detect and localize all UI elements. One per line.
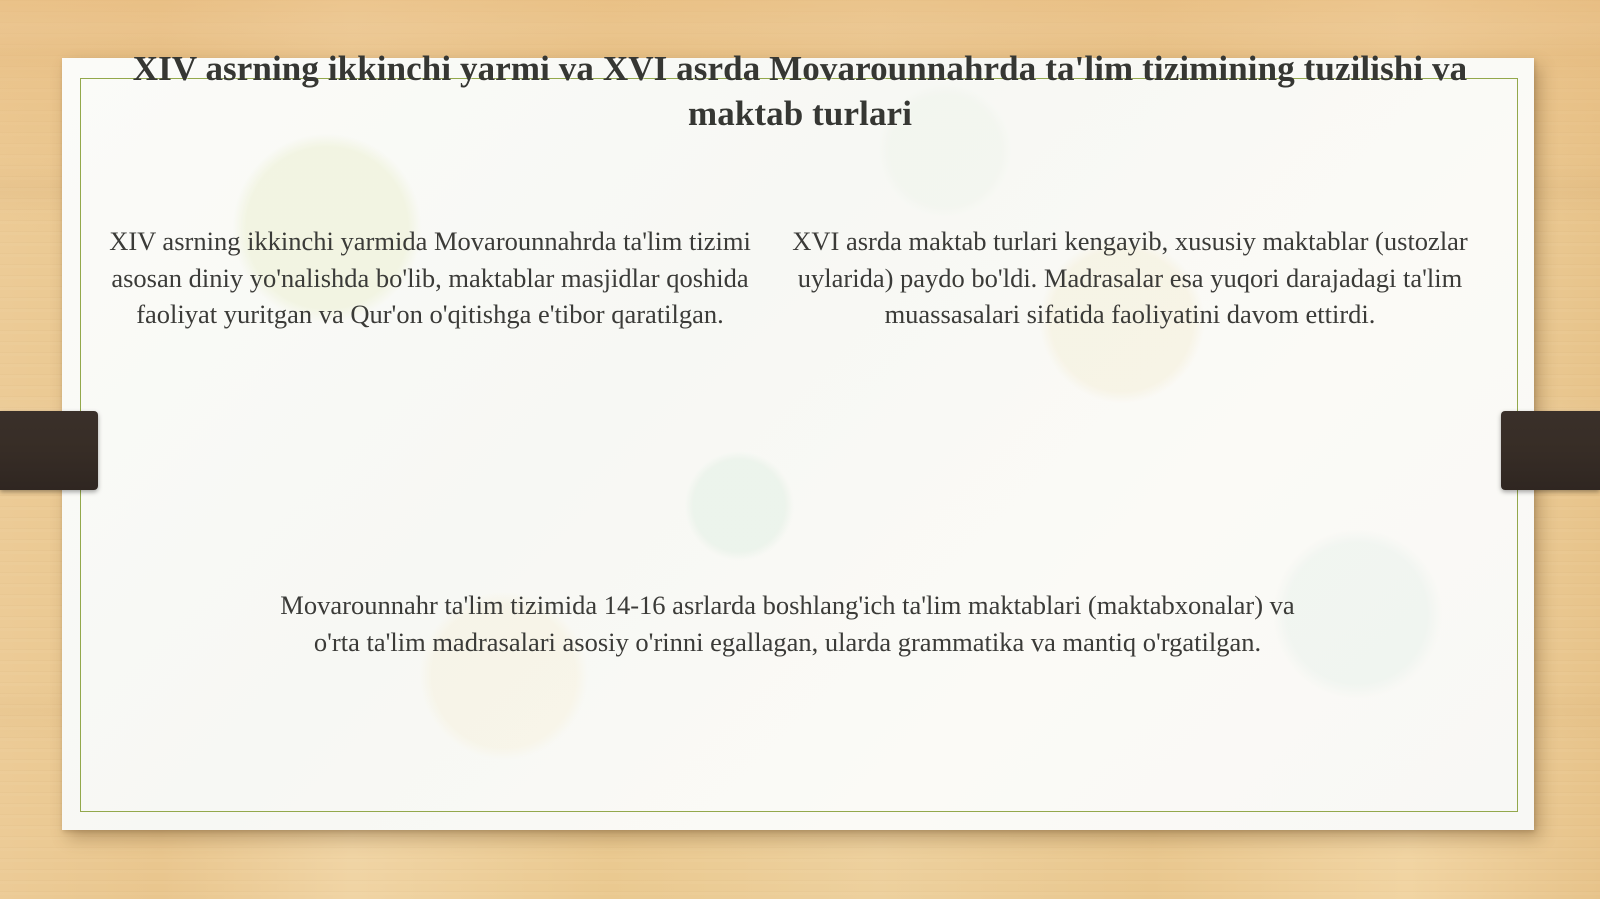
card-inner-border [80, 78, 1518, 812]
decorative-side-tab-right [1501, 411, 1600, 490]
text-block-footer-paragraph: Movarounnahr ta'lim tizimida 14-16 asrla… [270, 587, 1305, 660]
card-paper-texture [62, 58, 1534, 830]
decorative-side-tab-left [0, 411, 98, 490]
slide-root: XIV asrning ikkinchi yarmi va XVI asrda … [0, 0, 1600, 899]
slide-title: XIV asrning ikkinchi yarmi va XVI asrda … [100, 46, 1500, 136]
content-card [62, 58, 1534, 830]
text-block-right-column: XVI asrda maktab turlari kengayib, xusus… [790, 223, 1470, 333]
text-block-left-column: XIV asrning ikkinchi yarmida Movarounnah… [105, 223, 755, 333]
